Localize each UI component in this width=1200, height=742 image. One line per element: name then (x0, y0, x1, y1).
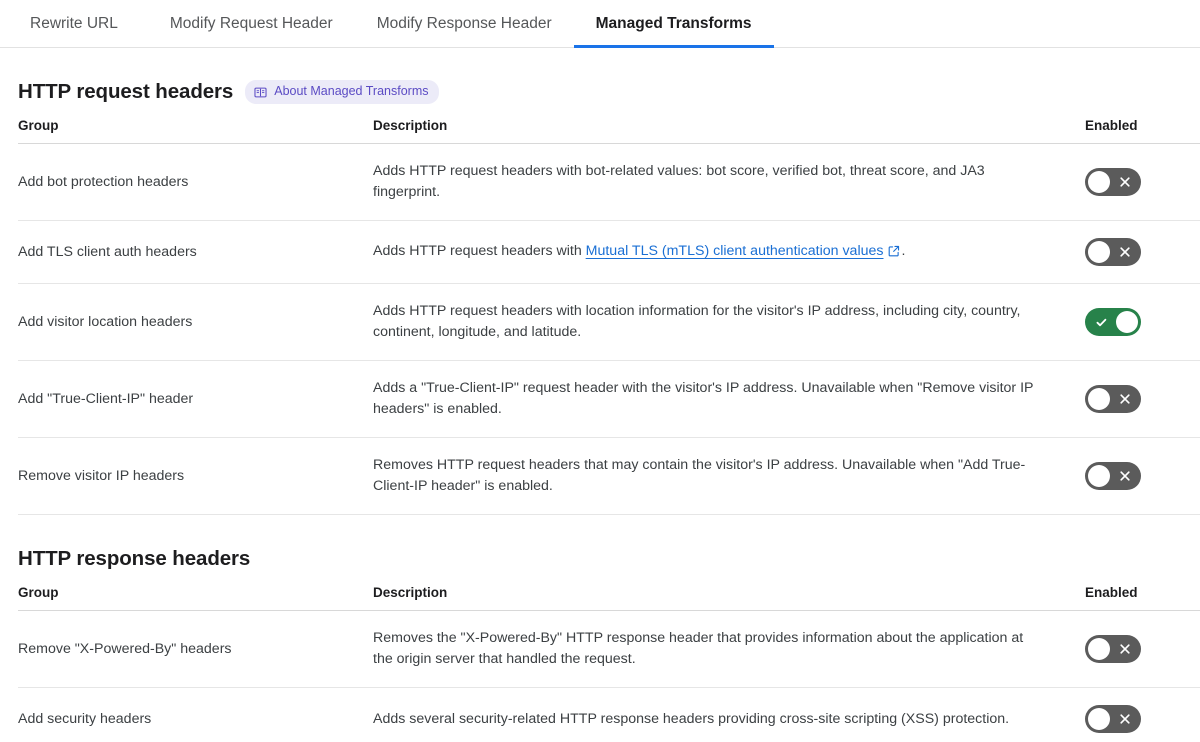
row-group-name: Remove "X-Powered-By" headers (18, 611, 373, 688)
response-section-title: HTTP response headers (18, 547, 250, 571)
http-response-headers-section: HTTP response headers Group Description … (0, 547, 1200, 742)
tab-modify-response-header[interactable]: Modify Response Header (355, 0, 574, 47)
toggle-add-visitor-location-headers[interactable] (1085, 308, 1141, 336)
response-section-header: HTTP response headers (18, 547, 1182, 571)
external-link-icon (888, 243, 900, 264)
table-row: Remove visitor IP headers Removes HTTP r… (18, 438, 1200, 515)
column-header-group: Group (18, 585, 373, 611)
row-group-name: Add TLS client auth headers (18, 221, 373, 284)
toggle-add-security-headers[interactable] (1085, 705, 1141, 733)
check-icon (1094, 308, 1108, 336)
cross-icon (1118, 635, 1132, 663)
toggle-knob (1088, 638, 1110, 660)
column-header-group: Group (18, 118, 373, 144)
table-row: Add "True-Client-IP" header Adds a "True… (18, 361, 1200, 438)
toggle-knob (1088, 241, 1110, 263)
row-group-name: Remove visitor IP headers (18, 438, 373, 515)
tab-label: Managed Transforms (596, 15, 752, 33)
request-section-header: HTTP request headers About Managed Trans… (18, 80, 1182, 104)
description-text-before: Adds HTTP request headers with (373, 243, 586, 259)
table-row: Remove "X-Powered-By" headers Removes th… (18, 611, 1200, 688)
row-description: Removes the "X-Powered-By" HTTP response… (373, 611, 1085, 688)
about-managed-transforms-badge[interactable]: About Managed Transforms (245, 80, 439, 104)
column-header-enabled: Enabled (1085, 585, 1200, 611)
table-header-row: Group Description Enabled (18, 585, 1200, 611)
row-description: Adds several security-related HTTP respo… (373, 688, 1085, 742)
tab-label: Modify Request Header (170, 15, 333, 33)
row-enabled-cell (1085, 284, 1200, 361)
row-description: Adds HTTP request headers with location … (373, 284, 1085, 361)
table-row: Add TLS client auth headers Adds HTTP re… (18, 221, 1200, 284)
row-enabled-cell (1085, 611, 1200, 688)
description-text-after: . (901, 243, 905, 259)
request-headers-table: Group Description Enabled Add bot protec… (18, 118, 1200, 515)
row-group-name: Add visitor location headers (18, 284, 373, 361)
toggle-add-true-client-ip-header[interactable] (1085, 385, 1141, 413)
badge-label: About Managed Transforms (274, 83, 428, 101)
cross-icon (1118, 462, 1132, 490)
toggle-add-tls-client-auth-headers[interactable] (1085, 238, 1141, 266)
tab-modify-request-header[interactable]: Modify Request Header (148, 0, 355, 47)
managed-transforms-page: Rewrite URL Modify Request Header Modify… (0, 0, 1200, 742)
row-enabled-cell (1085, 438, 1200, 515)
table-row: Add bot protection headers Adds HTTP req… (18, 144, 1200, 221)
toggle-knob (1088, 388, 1110, 410)
table-head: Group Description Enabled (18, 118, 1200, 144)
table-body: Remove "X-Powered-By" headers Removes th… (18, 611, 1200, 742)
toggle-remove-visitor-ip-headers[interactable] (1085, 462, 1141, 490)
cross-icon (1118, 238, 1132, 266)
row-description: Adds HTTP request headers with bot-relat… (373, 144, 1085, 221)
toggle-knob (1116, 311, 1138, 333)
cross-icon (1118, 385, 1132, 413)
row-group-name: Add "True-Client-IP" header (18, 361, 373, 438)
response-headers-table: Group Description Enabled Remove "X-Powe… (18, 585, 1200, 742)
cross-icon (1118, 168, 1132, 196)
column-header-description: Description (373, 118, 1085, 144)
row-group-name: Add bot protection headers (18, 144, 373, 221)
column-header-enabled: Enabled (1085, 118, 1200, 144)
row-description: Adds HTTP request headers with Mutual TL… (373, 221, 1085, 284)
tab-managed-transforms[interactable]: Managed Transforms (574, 0, 774, 47)
table-head: Group Description Enabled (18, 585, 1200, 611)
row-group-name: Add security headers (18, 688, 373, 742)
row-enabled-cell (1085, 221, 1200, 284)
http-request-headers-section: HTTP request headers About Managed Trans… (0, 80, 1200, 515)
toggle-knob (1088, 708, 1110, 730)
tab-label: Rewrite URL (30, 15, 118, 33)
row-description: Adds a "True-Client-IP" request header w… (373, 361, 1085, 438)
toggle-knob (1088, 465, 1110, 487)
column-header-description: Description (373, 585, 1085, 611)
table-body: Add bot protection headers Adds HTTP req… (18, 144, 1200, 515)
cross-icon (1118, 705, 1132, 733)
toggle-remove-x-powered-by-headers[interactable] (1085, 635, 1141, 663)
toggle-knob (1088, 171, 1110, 193)
book-icon (254, 86, 267, 99)
page-title: HTTP request headers (18, 80, 233, 104)
mtls-documentation-link[interactable]: Mutual TLS (mTLS) client authentication … (586, 243, 884, 259)
row-description: Removes HTTP request headers that may co… (373, 438, 1085, 515)
table-row: Add visitor location headers Adds HTTP r… (18, 284, 1200, 361)
toggle-add-bot-protection-headers[interactable] (1085, 168, 1141, 196)
table-header-row: Group Description Enabled (18, 118, 1200, 144)
tab-label: Modify Response Header (377, 15, 552, 33)
row-enabled-cell (1085, 144, 1200, 221)
row-enabled-cell (1085, 361, 1200, 438)
tab-bar: Rewrite URL Modify Request Header Modify… (0, 0, 1200, 48)
row-enabled-cell (1085, 688, 1200, 742)
table-row: Add security headers Adds several securi… (18, 688, 1200, 742)
tab-rewrite-url[interactable]: Rewrite URL (30, 0, 140, 47)
